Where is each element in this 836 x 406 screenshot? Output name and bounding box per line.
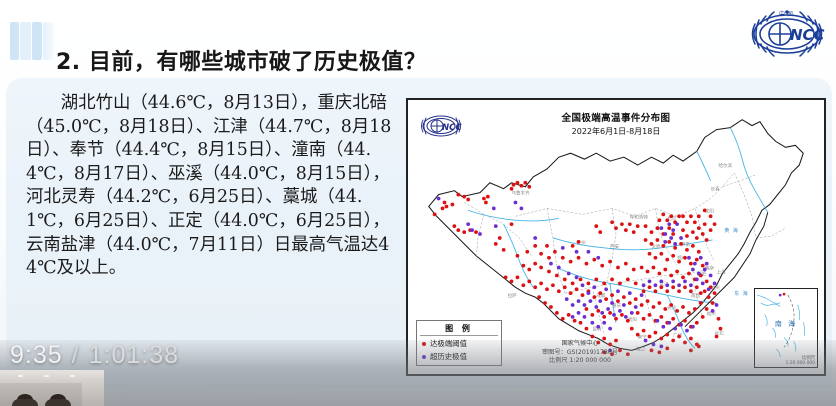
map-credits: 国家气候中心 审图号：GS(2019)1786号 比例尺 1:20 000 00… <box>520 340 640 365</box>
credits-scale: 比例尺 1:20 000 000 <box>520 357 640 365</box>
svg-text:南昌: 南昌 <box>691 292 700 299</box>
record-cities-text: 湖北竹山（44.6℃，8月13日），重庆北碚（45.0℃，8月18日）、江津（4… <box>26 92 396 281</box>
video-player-screen: 中 国 NCC 2. 目前，有哪些城市破了历史极值？ 湖北竹山（44.6℃，8月… <box>0 0 836 406</box>
legend-item-record: 超历史极值 <box>420 351 498 362</box>
legend-dot-purple <box>422 355 426 359</box>
map-title: 全国极端高温事件分布图 <box>408 110 824 124</box>
legend-dot-red <box>422 342 426 346</box>
inset-label: 南 海 <box>755 319 817 329</box>
svg-text:乌鲁木齐: 乌鲁木齐 <box>512 190 531 197</box>
south-china-sea-inset: 南 海 比例尺1:20 000 000 <box>754 288 818 368</box>
svg-text:呼和浩特: 呼和浩特 <box>630 213 649 220</box>
ncc-logo-icon: 中 国 NCC <box>746 4 828 62</box>
player-time-display: 9:35/1:01:38 <box>10 341 179 370</box>
logo-text: NCC <box>790 26 825 44</box>
ribbon-decoration <box>10 22 54 60</box>
page-title: 2. 目前，有哪些城市破了历史极值？ <box>56 44 426 76</box>
credits-approval: 审图号：GS(2019)1786号 <box>520 349 640 357</box>
legend-label-record: 超历史极值 <box>430 351 467 362</box>
legend-title: 图 例 <box>420 323 498 336</box>
legend-item-threshold: 达极端阈值 <box>420 338 498 349</box>
inset-scale: 比例尺1:20 000 000 <box>786 356 815 366</box>
credits-org: 国家气候中心 <box>520 340 640 348</box>
time-separator: / <box>72 341 80 369</box>
svg-text:西安: 西安 <box>610 243 620 250</box>
legend-label-threshold: 达极端阈值 <box>430 338 467 349</box>
map-figure: 乌鲁木齐 哈尔滨 长春 沈阳 呼和浩特 北京 太原 济南 郑州 西安 兰州 拉萨… <box>406 98 826 376</box>
svg-text:上海: 上海 <box>717 268 727 275</box>
svg-text:长春: 长春 <box>711 186 721 193</box>
current-time: 9:35 <box>10 341 63 369</box>
map-legend: 图 例 达极端阈值 超历史极值 <box>416 320 502 366</box>
map-subtitle: 2022年6月1日-8月18日 <box>408 126 824 137</box>
svg-text:拉萨: 拉萨 <box>508 292 518 299</box>
svg-text:哈尔滨: 哈尔滨 <box>719 162 733 169</box>
logo-cn-text: 中 国 <box>779 10 793 18</box>
svg-text:东 海: 东 海 <box>734 290 748 297</box>
total-duration: 1:01:38 <box>89 341 179 369</box>
webcam-thumbnail[interactable] <box>0 370 104 406</box>
svg-text:黄 海: 黄 海 <box>724 227 738 234</box>
